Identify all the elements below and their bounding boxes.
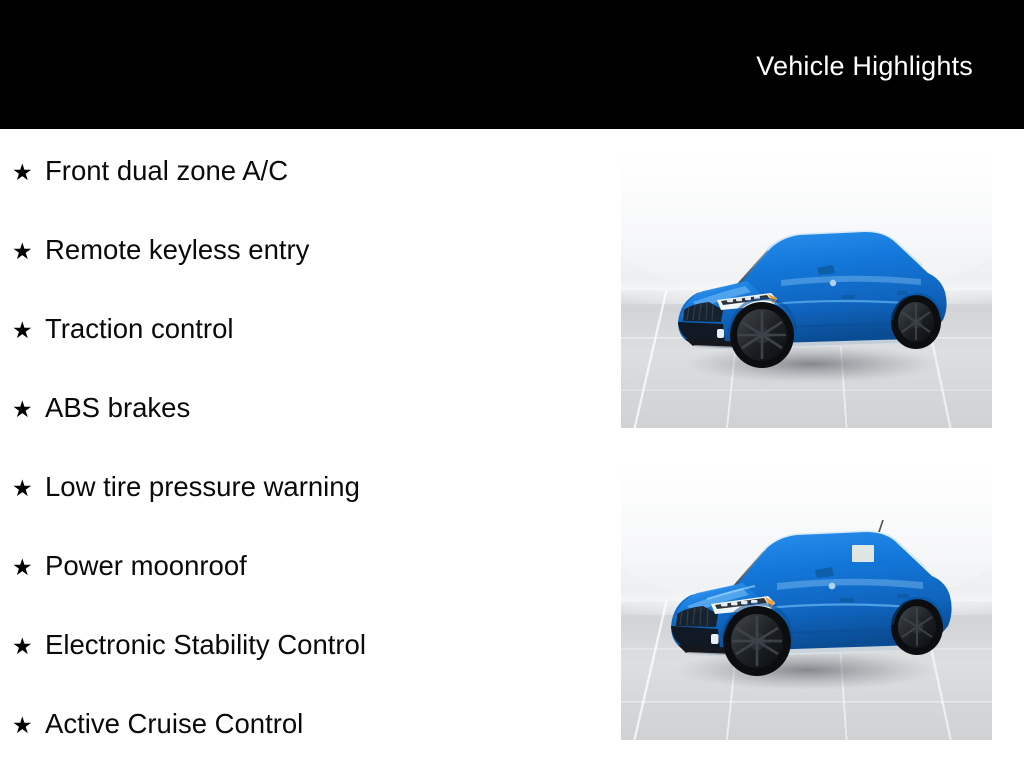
vehicle-photo-front-three-quarter-closer[interactable] bbox=[621, 462, 992, 740]
list-item: ★ Front dual zone A/C bbox=[12, 155, 288, 191]
feature-label: Traction control bbox=[45, 313, 234, 345]
feature-label: Power moonroof bbox=[45, 550, 247, 582]
feature-label: Electronic Stability Control bbox=[45, 629, 366, 661]
feature-label: Front dual zone A/C bbox=[45, 155, 288, 187]
page-content: ★ Front dual zone A/C ★ Remote keyless e… bbox=[0, 129, 1024, 768]
list-item: ★ Remote keyless entry bbox=[12, 234, 309, 270]
star-icon: ★ bbox=[12, 158, 32, 186]
list-item: ★ Traction control bbox=[12, 313, 234, 349]
list-item: ★ ABS brakes bbox=[12, 392, 190, 428]
star-icon: ★ bbox=[12, 474, 32, 502]
vehicle-photo-front-three-quarter[interactable] bbox=[621, 152, 992, 428]
star-icon: ★ bbox=[12, 237, 32, 265]
feature-label: Low tire pressure warning bbox=[45, 471, 360, 503]
list-item: ★ Power moonroof bbox=[12, 550, 247, 586]
star-icon: ★ bbox=[12, 553, 32, 581]
list-item: ★ Low tire pressure warning bbox=[12, 471, 360, 507]
car-illustration bbox=[621, 152, 992, 428]
star-icon: ★ bbox=[12, 711, 32, 739]
list-item: ★ Electronic Stability Control bbox=[12, 629, 366, 665]
list-item: ★ Active Cruise Control bbox=[12, 708, 303, 744]
page-header: Vehicle Highlights bbox=[0, 0, 1024, 129]
feature-label: Active Cruise Control bbox=[45, 708, 303, 740]
car-illustration bbox=[621, 462, 992, 740]
vehicle-features-list: ★ Front dual zone A/C ★ Remote keyless e… bbox=[0, 129, 610, 768]
star-icon: ★ bbox=[12, 632, 32, 660]
feature-label: Remote keyless entry bbox=[45, 234, 309, 266]
page-title: Vehicle Highlights bbox=[756, 50, 973, 82]
star-icon: ★ bbox=[12, 316, 32, 344]
star-icon: ★ bbox=[12, 395, 32, 423]
feature-label: ABS brakes bbox=[45, 392, 190, 424]
